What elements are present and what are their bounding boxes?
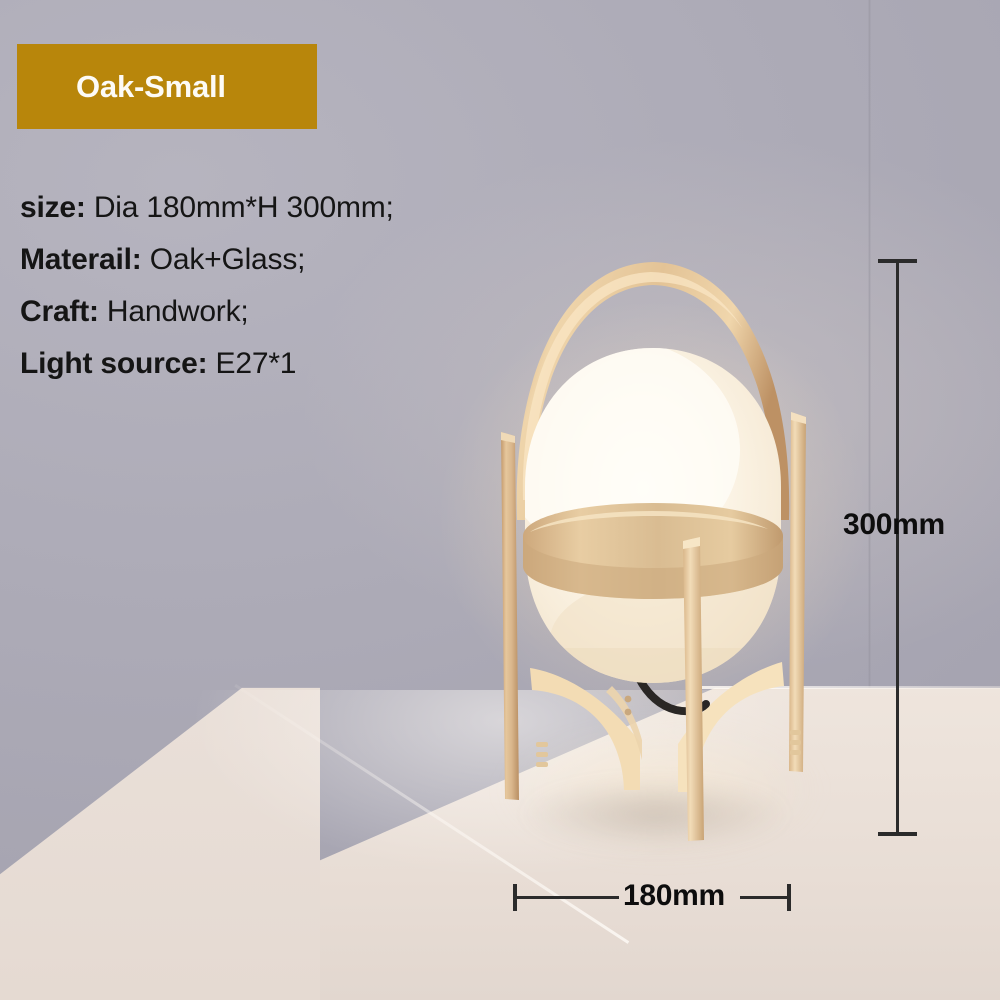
height-dimension-cap-bottom — [878, 832, 917, 836]
spec-key: Materail: — [20, 243, 142, 276]
spec-list: size: Dia 180mm*H 300mm; Materail: Oak+G… — [20, 182, 580, 390]
spec-row: Craft: Handwork; — [20, 286, 580, 338]
spec-value: Handwork; — [99, 295, 249, 328]
width-dimension-cap-right — [787, 884, 791, 911]
table-lamp-product — [0, 0, 1000, 1000]
lamp-leg-right — [789, 412, 806, 772]
height-dimension-line — [896, 262, 899, 834]
lamp-brace-notches — [536, 730, 801, 767]
spec-key: Craft: — [20, 295, 99, 328]
spec-key: Light source: — [20, 347, 207, 380]
spec-key: size: — [20, 191, 86, 224]
spec-row: Light source: E27*1 — [20, 338, 580, 390]
spec-row: Materail: Oak+Glass; — [20, 234, 580, 286]
width-dimension-label: 180mm — [623, 879, 725, 913]
spec-row: size: Dia 180mm*H 300mm; — [20, 182, 580, 234]
variant-badge-label: Oak-Small — [76, 69, 226, 105]
variant-badge: Oak-Small — [17, 44, 317, 129]
spec-value: Dia 180mm*H 300mm; — [86, 191, 394, 224]
product-image: Oak-Small size: Dia 180mm*H 300mm; Mater… — [0, 0, 1000, 1000]
width-dimension-line-right — [740, 896, 790, 899]
height-dimension-label: 300mm — [843, 508, 945, 542]
width-dimension-line-left — [515, 896, 619, 899]
spec-value: Oak+Glass; — [142, 243, 306, 276]
spec-value: E27*1 — [207, 347, 296, 380]
